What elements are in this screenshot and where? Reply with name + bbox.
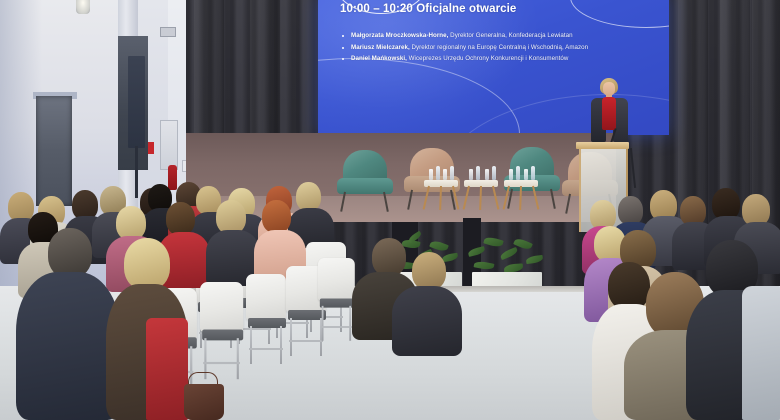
- presenter-at-podium: [588, 78, 632, 146]
- bullet-speaker-name: Mariusz Mielczarek,: [351, 44, 410, 51]
- slide-bullet-item: Małgorzata Mroczkowska-Horne, Dyrektor G…: [338, 30, 588, 42]
- slide-bullet-list: Małgorzata Mroczkowska-Horne, Dyrektor G…: [338, 30, 588, 65]
- presenter-red-scarf: [602, 97, 616, 130]
- bullet-speaker-role: Wiceprezes Urzędu Ochrony Konkurencji i …: [409, 55, 569, 62]
- doorway-left: [36, 96, 72, 206]
- handbag-icon: [184, 384, 224, 420]
- pa-speaker-icon: [128, 56, 145, 148]
- fire-extinguisher-icon: [168, 165, 177, 190]
- wall-lamp-icon: [76, 0, 90, 14]
- slide-bullet-item: Daniel Mańkowski, Wiceprezes Urzędu Ochr…: [338, 53, 588, 65]
- red-wall-marker: [148, 142, 154, 154]
- bullet-speaker-role: Dyrektor Generalna, Konfederacja Lewiata…: [450, 32, 572, 39]
- arc-decoration-icon: [570, 0, 669, 28]
- extinguisher-cabinet: [160, 120, 178, 170]
- bullet-speaker-name: Daniel Mańkowski,: [351, 55, 407, 62]
- wall-sign: [160, 27, 176, 37]
- slide-bullet-item: Mariusz Mielczarek, Dyrektor regionalny …: [338, 42, 588, 54]
- bullet-speaker-role: Dyrektor regionalny na Europę Centralną …: [412, 44, 589, 51]
- conference-hall-photo: 10:00 – 10:20 Oficjalne otwarcie Małgorz…: [0, 0, 780, 420]
- bullet-speaker-name: Małgorzata Mroczkowska-Horne,: [351, 32, 448, 39]
- speaker-stand: [135, 146, 138, 198]
- slide-title: 10:00 – 10:20 Oficjalne otwarcie: [340, 3, 516, 15]
